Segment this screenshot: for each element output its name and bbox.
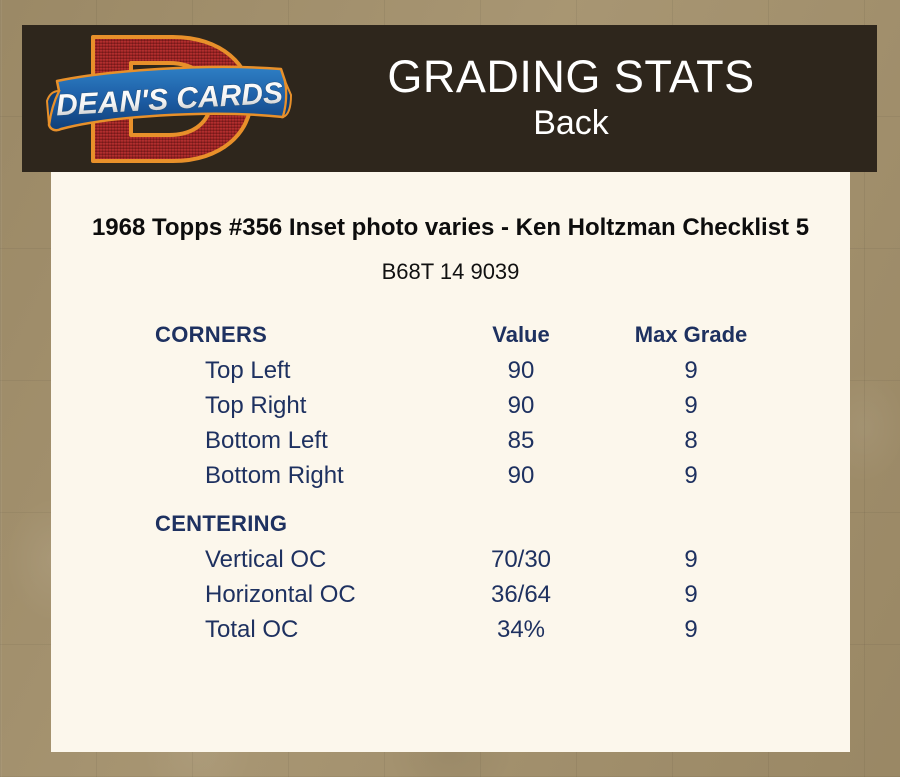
row-label: Bottom Right [51, 462, 441, 490]
grading-stats-table: CORNERS Value Max Grade Top Left 90 9 To… [51, 322, 850, 651]
deans-cards-logo[interactable]: DEAN'S CARDS [45, 29, 295, 169]
table-row: Top Right 90 9 [51, 392, 850, 427]
stats-panel: 1968 Topps #356 Inset photo varies - Ken… [51, 172, 850, 752]
table-row: Vertical OC 70/30 9 [51, 546, 850, 581]
row-value: 36/64 [441, 581, 601, 609]
header-titles: GRADING STATS Back [295, 51, 877, 143]
logo-artwork: DEAN'S CARDS [45, 29, 295, 169]
section-header-row: CENTERING [51, 511, 850, 546]
row-label: Vertical OC [51, 546, 441, 574]
row-value: 34% [441, 616, 601, 644]
table-row: Bottom Right 90 9 [51, 462, 850, 497]
row-max-grade: 9 [601, 546, 781, 574]
table-row: Horizontal OC 36/64 9 [51, 581, 850, 616]
column-header-max-grade: Max Grade [601, 322, 781, 348]
table-row: Top Left 90 9 [51, 357, 850, 392]
row-value: 85 [441, 427, 601, 455]
row-value: 90 [441, 392, 601, 420]
section-spacer [51, 497, 850, 511]
row-max-grade: 9 [601, 581, 781, 609]
row-label: Total OC [51, 616, 441, 644]
column-header-value: Value [441, 322, 601, 348]
row-label: Top Left [51, 357, 441, 385]
card-code: B68T 14 9039 [51, 258, 850, 286]
row-label: Horizontal OC [51, 581, 441, 609]
table-row: Bottom Left 85 8 [51, 427, 850, 462]
row-label: Top Right [51, 392, 441, 420]
row-max-grade: 8 [601, 427, 781, 455]
section-title-centering: CENTERING [51, 511, 441, 537]
row-max-grade: 9 [601, 357, 781, 385]
page-subtitle: Back [295, 103, 847, 143]
header-bar: DEAN'S CARDS GRADING STATS Back [22, 25, 877, 172]
row-value: 70/30 [441, 546, 601, 574]
card-title: 1968 Topps #356 Inset photo varies - Ken… [51, 212, 850, 244]
table-header-row: CORNERS Value Max Grade [51, 322, 850, 357]
row-value: 90 [441, 357, 601, 385]
page-title: GRADING STATS [295, 51, 847, 103]
row-max-grade: 9 [601, 616, 781, 644]
section-title-corners: CORNERS [51, 322, 441, 348]
row-label: Bottom Left [51, 427, 441, 455]
row-max-grade: 9 [601, 462, 781, 490]
row-value: 90 [441, 462, 601, 490]
table-row: Total OC 34% 9 [51, 616, 850, 651]
row-max-grade: 9 [601, 392, 781, 420]
